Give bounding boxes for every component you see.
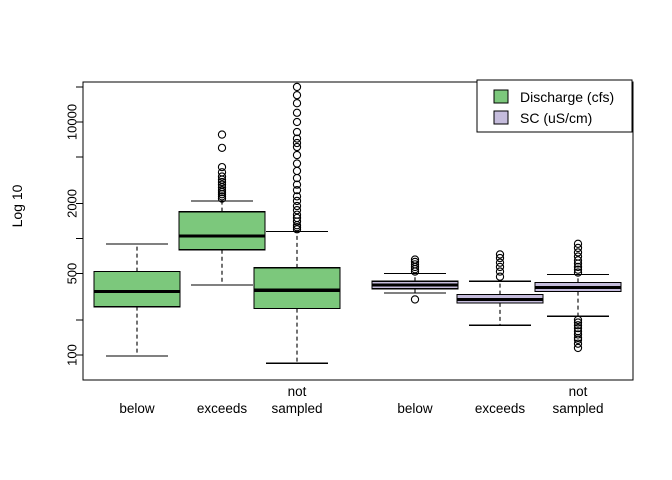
outlier-point [574,344,581,351]
boxplot-box [372,256,458,303]
x-axis-label: not [288,384,307,399]
y-axis-tick-label: 10000 [65,104,80,140]
x-axis-label: exceeds [475,401,526,416]
boxplot-box [457,251,543,325]
boxplot-box [179,131,265,285]
boxplot-box [535,240,621,351]
legend-swatch [494,111,508,124]
outlier-point [293,118,300,125]
x-axis-label: below [119,401,155,416]
chart-canvas: 100500200010000Log 10belowexceedsnotsamp… [0,0,672,480]
x-axis-label: below [397,401,433,416]
x-axis-label: not [569,384,588,399]
outlier-point [293,100,300,107]
x-axis-label: exceeds [197,401,248,416]
box-iqr [179,212,265,250]
y-axis-title: Log 10 [9,184,25,227]
outlier-point [293,92,300,99]
x-axis-label: sampled [552,401,603,416]
legend-swatch [494,90,508,103]
box-iqr [254,268,340,309]
boxplot-box [94,244,180,356]
y-axis-tick-label: 100 [65,344,80,366]
outlier-point [411,296,418,303]
outlier-point [293,109,300,116]
labels-layer: 100500200010000Log 10belowexceedsnotsamp… [9,104,604,416]
outlier-point [293,167,300,174]
outlier-point [218,131,225,138]
outlier-point [293,160,300,167]
boxplot-box [254,83,340,363]
outlier-point [218,144,225,151]
legend-layer[interactable]: Discharge (cfs)SC (uS/cm) [477,80,632,132]
y-axis-tick-label: 2000 [65,189,80,218]
legend-label[interactable]: Discharge (cfs) [520,89,614,105]
x-axis-label: sampled [271,401,322,416]
outlier-point [293,151,300,158]
boxplot-figure: 100500200010000Log 10belowexceedsnotsamp… [0,0,672,480]
outlier-point [293,207,300,214]
box-iqr [94,272,180,307]
y-axis-tick-label: 500 [65,263,80,285]
legend-label[interactable]: SC (uS/cm) [520,110,592,126]
outlier-point [293,83,300,90]
outlier-point [218,164,225,171]
